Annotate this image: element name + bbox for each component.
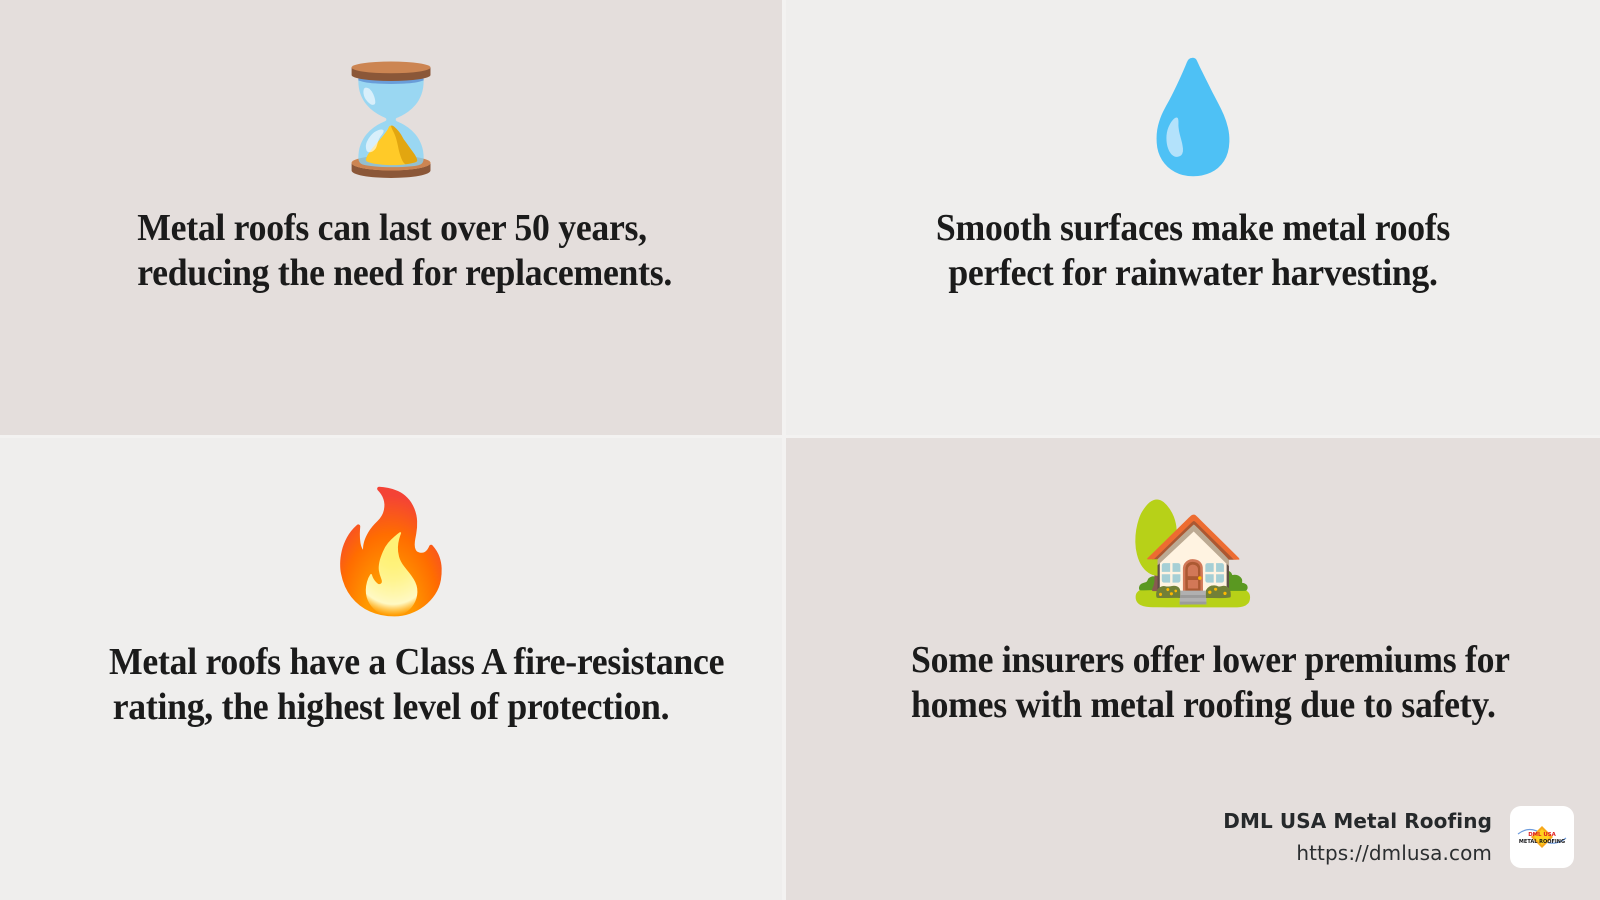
dml-usa-logo-icon[interactable]: DML USA METAL ROOFING: [1510, 806, 1574, 868]
fact-card-insurance: 🏡 Some insurers offer lower premiums for…: [786, 438, 1600, 900]
caption-line: Metal roofs have a Class A fire-resistan…: [109, 640, 673, 685]
fact-card-fire-rating: 🔥 Metal roofs have a Class A fire-resist…: [0, 438, 786, 900]
caption-line: Smooth surfaces make metal roofs: [930, 206, 1456, 251]
fact-caption-fire-rating: Metal roofs have a Class A fire-resistan…: [71, 640, 710, 730]
brand-block[interactable]: DML USA Metal Roofing https://dmlusa.com…: [1223, 806, 1574, 868]
brand-name: DML USA Metal Roofing: [1223, 806, 1492, 836]
water-droplet-icon-glyph: 💧: [1126, 64, 1260, 172]
fact-caption-insurance: Some insurers offer lower premiums for h…: [873, 638, 1512, 728]
house-with-garden-icon-glyph: 🏡: [1128, 498, 1258, 602]
fire-icon: 🔥: [318, 486, 465, 616]
dml-usa-logo-mark: DML USA METAL ROOFING: [1515, 817, 1569, 857]
caption-line: rating, the highest level of protection.: [109, 685, 673, 730]
caption-line: Metal roofs can last over 50 years,: [137, 206, 645, 251]
svg-text:METAL ROOFING: METAL ROOFING: [1519, 839, 1565, 845]
caption-line: perfect for rainwater harvesting.: [930, 251, 1456, 296]
fire-icon-glyph: 🔥: [318, 492, 465, 610]
caption-line: homes with metal roofing due to safety.: [911, 683, 1475, 728]
fact-caption-rainwater: Smooth surfaces make metal roofs perfect…: [892, 206, 1494, 296]
brand-text-group: DML USA Metal Roofing https://dmlusa.com: [1223, 806, 1492, 868]
water-droplet-icon: 💧: [1126, 58, 1260, 178]
hourglass-icon-glyph: ⌛: [325, 67, 457, 173]
brand-url[interactable]: https://dmlusa.com: [1296, 838, 1492, 868]
caption-line: reducing the need for replacements.: [137, 251, 645, 296]
hourglass-icon: ⌛: [325, 60, 457, 180]
caption-line: Some insurers offer lower premiums for: [911, 638, 1475, 683]
fact-caption-longevity: Metal roofs can last over 50 years, redu…: [100, 206, 683, 296]
svg-text:DML USA: DML USA: [1528, 832, 1556, 838]
fact-card-rainwater: 💧 Smooth surfaces make metal roofs perfe…: [786, 0, 1600, 438]
facts-board: ⌛ Metal roofs can last over 50 years, re…: [0, 0, 1600, 900]
house-with-garden-icon: 🏡: [1128, 490, 1258, 610]
fact-card-longevity: ⌛ Metal roofs can last over 50 years, re…: [0, 0, 786, 438]
